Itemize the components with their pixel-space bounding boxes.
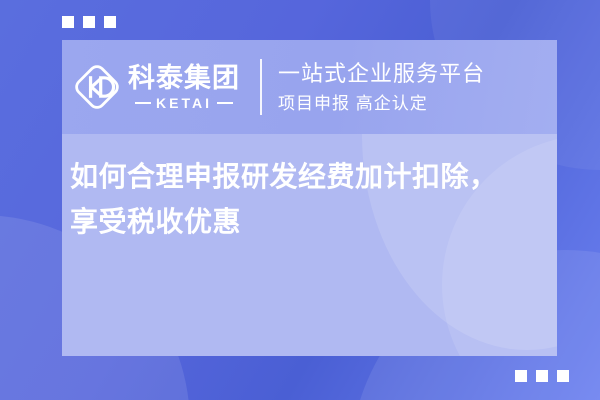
brand-logo[interactable]: 科泰集团 KETAI	[74, 64, 240, 110]
slogan-primary: 一站式企业服务平台	[278, 60, 485, 88]
ketai-diamond-kd-monogram-icon	[74, 64, 120, 110]
content-panel: 科泰集团 KETAI 一站式企业服务平台 项目申报 高企认定 如何合理申报研发经…	[62, 40, 557, 356]
slogan-secondary: 项目申报 高企认定	[278, 93, 485, 114]
headline-line-2: 享受税收优惠	[70, 199, 539, 244]
brand-name-en-row: KETAI	[135, 96, 233, 110]
decorative-dots-bottom-right	[515, 370, 569, 382]
brand-header: 科泰集团 KETAI 一站式企业服务平台 项目申报 高企认定	[62, 40, 557, 134]
brand-name-en: KETAI	[156, 96, 212, 110]
square-dot-icon	[62, 16, 74, 28]
square-dot-icon	[104, 16, 116, 28]
decorative-dots-top-left	[62, 16, 116, 28]
square-dot-icon	[515, 370, 527, 382]
slogan-block: 一站式企业服务平台 项目申报 高企认定	[278, 60, 485, 114]
headline-line-1: 如何合理申报研发经费加计扣除，	[70, 154, 539, 199]
square-dot-icon	[557, 370, 569, 382]
article-headline: 如何合理申报研发经费加计扣除， 享受税收优惠	[62, 134, 557, 245]
wordmark-rule-right	[217, 102, 233, 104]
square-dot-icon	[83, 16, 95, 28]
header-divider	[260, 59, 262, 115]
square-dot-icon	[536, 370, 548, 382]
wordmark-rule-left	[135, 102, 151, 104]
brand-wordmark: 科泰集团 KETAI	[128, 65, 240, 110]
promo-banner: 科泰集团 KETAI 一站式企业服务平台 项目申报 高企认定 如何合理申报研发经…	[0, 0, 600, 400]
brand-name-cn: 科泰集团	[128, 65, 240, 92]
